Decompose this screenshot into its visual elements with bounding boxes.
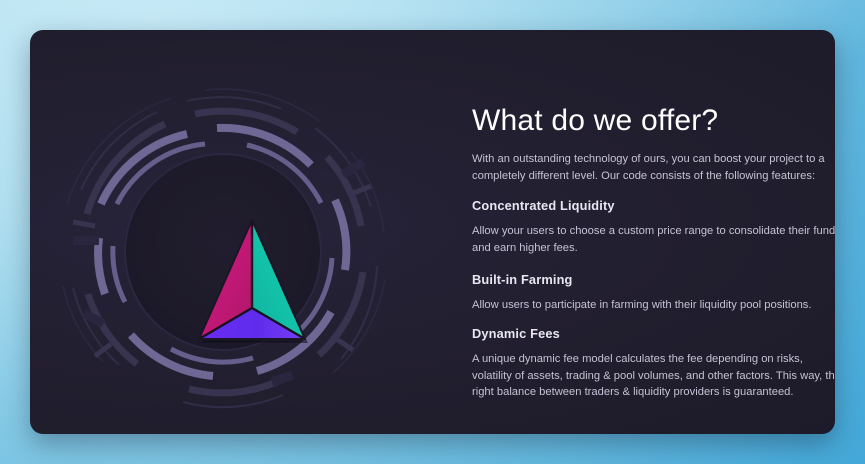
feature-title: Concentrated Liquidity bbox=[472, 198, 835, 213]
feature-dynamic-fees: Dynamic Fees A unique dynamic fee model … bbox=[472, 326, 835, 401]
feature-card: What do we offer? With an outstanding te… bbox=[30, 30, 835, 434]
feature-body: Allow your users to choose a custom pric… bbox=[472, 223, 835, 256]
feature-built-in-farming: Built-in Farming Allow users to particip… bbox=[472, 272, 835, 314]
page-background: What do we offer? With an outstanding te… bbox=[0, 0, 865, 464]
feature-body: Allow users to participate in farming wi… bbox=[472, 297, 835, 314]
feature-body: A unique dynamic fee model calculates th… bbox=[472, 351, 835, 401]
page-title: What do we offer? bbox=[472, 104, 718, 138]
feature-title: Built-in Farming bbox=[472, 272, 835, 287]
copy-panel: What do we offer? With an outstanding te… bbox=[440, 30, 835, 434]
feature-concentrated-liquidity: Concentrated Liquidity Allow your users … bbox=[472, 198, 835, 256]
brand-graphic-panel bbox=[30, 30, 445, 434]
intro-paragraph: With an outstanding technology of ours, … bbox=[472, 151, 832, 184]
feature-title: Dynamic Fees bbox=[472, 326, 835, 341]
concentric-hud-rings bbox=[30, 30, 445, 434]
